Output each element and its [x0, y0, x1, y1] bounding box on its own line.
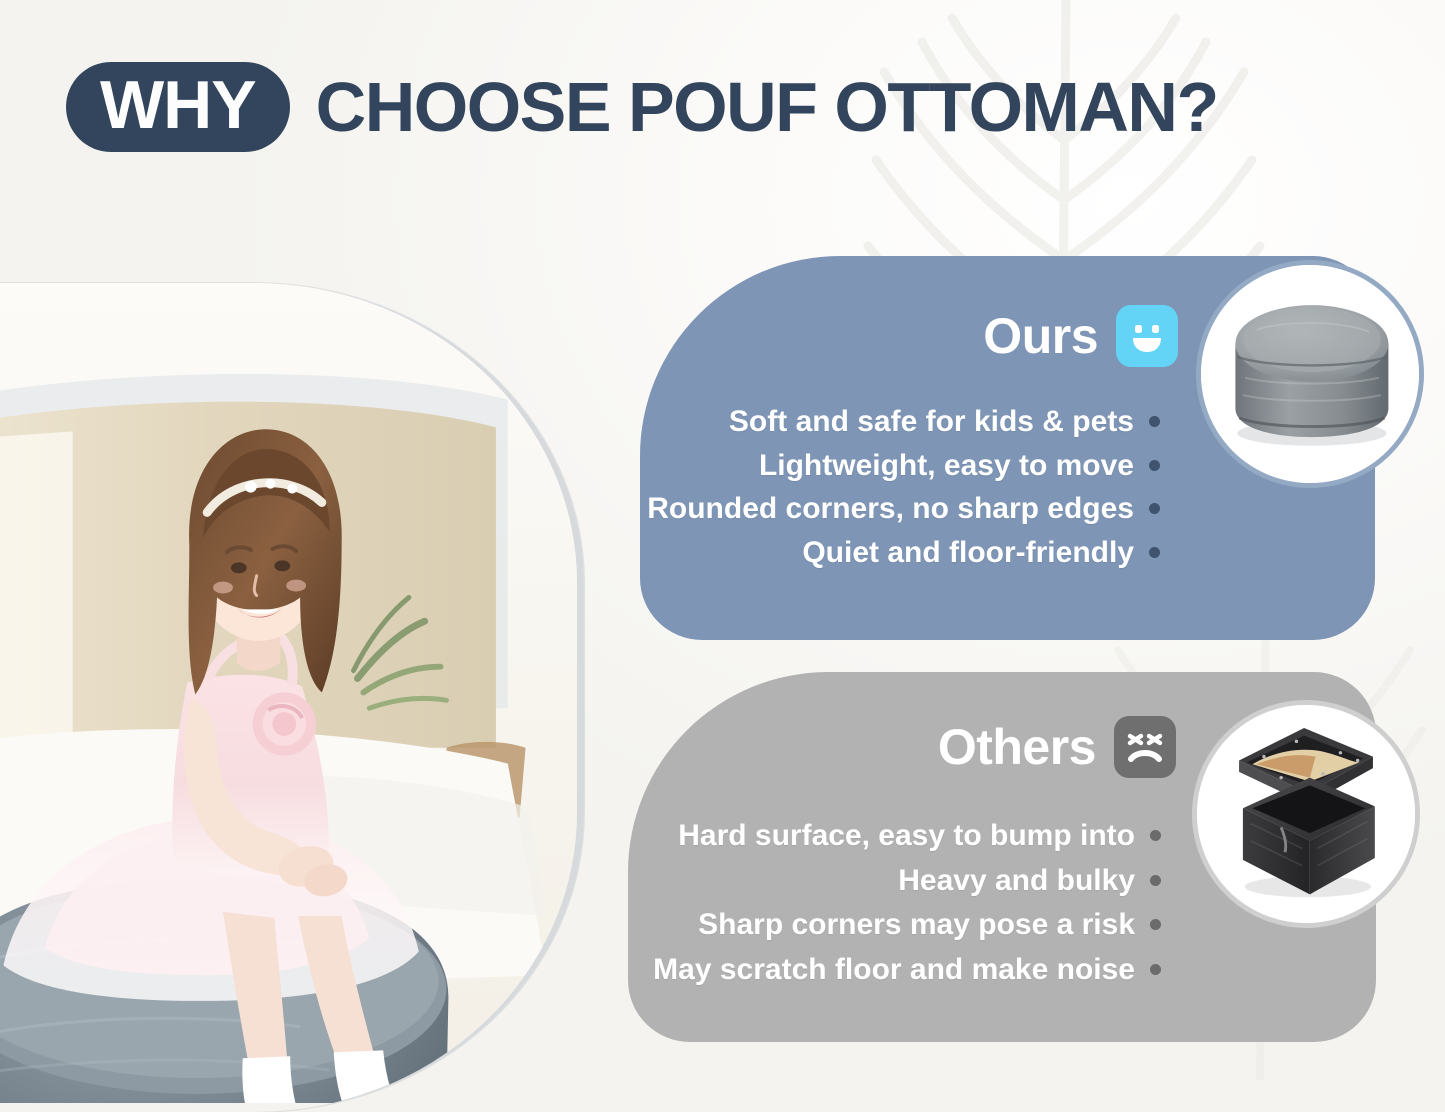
- bullet-dot-icon: [1150, 875, 1161, 886]
- title-text: CHOOSE POUF OTTOMAN?: [316, 72, 1218, 142]
- bullet-dot-icon: [1149, 416, 1160, 427]
- list-item: May scratch floor and make noise: [653, 953, 1161, 987]
- ours-bullet-list: Soft and safe for kids & pets Lightweigh…: [647, 405, 1160, 569]
- others-bullet-list: Hard surface, easy to bump into Heavy an…: [653, 819, 1161, 986]
- list-item: Lightweight, easy to move: [759, 449, 1160, 483]
- black-square-storage-ottoman-box-thumbnail: [1192, 700, 1420, 928]
- page-title: WHY CHOOSE POUF OTTOMAN?: [66, 57, 1218, 157]
- others-bullet-text: Heavy and bulky: [898, 864, 1135, 898]
- bullet-dot-icon: [1149, 460, 1160, 471]
- ours-bullet-text: Rounded corners, no sharp edges: [647, 492, 1134, 526]
- list-item: Sharp corners may pose a risk: [698, 908, 1161, 942]
- bullet-dot-icon: [1149, 547, 1160, 558]
- list-item: Rounded corners, no sharp edges: [647, 492, 1160, 526]
- list-item: Heavy and bulky: [898, 864, 1161, 898]
- ours-title: Ours: [983, 311, 1098, 361]
- bullet-dot-icon: [1149, 503, 1160, 514]
- confounded-face-icon: [1114, 716, 1176, 778]
- ours-bullet-text: Lightweight, easy to move: [759, 449, 1134, 483]
- title-badge-why: WHY: [66, 62, 290, 152]
- others-heading: Others: [938, 716, 1176, 778]
- list-item: Soft and safe for kids & pets: [729, 405, 1160, 439]
- others-bullet-text: Sharp corners may pose a risk: [698, 908, 1135, 942]
- bullet-dot-icon: [1150, 964, 1161, 975]
- bullet-dot-icon: [1150, 830, 1161, 841]
- ours-bullet-text: Soft and safe for kids & pets: [729, 405, 1134, 439]
- lifestyle-photo-frame: [0, 283, 584, 1112]
- others-title: Others: [938, 722, 1096, 772]
- list-item: Hard surface, easy to bump into: [678, 819, 1161, 853]
- list-item: Quiet and floor-friendly: [802, 536, 1160, 570]
- smiling-face-icon: [1116, 305, 1178, 367]
- bullet-dot-icon: [1150, 919, 1161, 930]
- girl-sitting-on-gray-pouf-photo: [0, 283, 577, 1103]
- ours-bullet-text: Quiet and floor-friendly: [802, 536, 1134, 570]
- others-bullet-text: Hard surface, easy to bump into: [678, 819, 1135, 853]
- gray-round-pouf-ottoman-thumbnail: [1196, 260, 1424, 488]
- ours-heading: Ours: [983, 305, 1178, 367]
- others-bullet-text: May scratch floor and make noise: [653, 953, 1135, 987]
